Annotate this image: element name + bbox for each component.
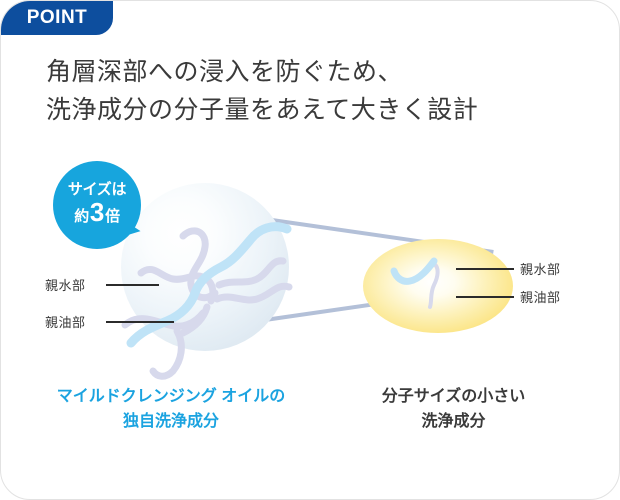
left-leader-line-hydrophilic bbox=[106, 284, 159, 286]
size-badge-suffix: 倍 bbox=[105, 204, 120, 230]
large-molecule-strands bbox=[111, 181, 311, 381]
large-molecule-sphere bbox=[121, 183, 289, 351]
right-label-hydrophilic: 親水部 bbox=[520, 259, 561, 278]
point-card: POINT 角層深部への浸入を防ぐため、 洗浄成分の分子量をあえて大きく設計 bbox=[0, 0, 620, 500]
left-label-hydrophilic: 親水部 bbox=[45, 275, 86, 294]
page-title: 角層深部への浸入を防ぐため、 洗浄成分の分子量をあえて大きく設計 bbox=[46, 53, 478, 129]
right-label-lipophilic: 親油部 bbox=[520, 287, 561, 306]
right-leader-line-lipophilic bbox=[456, 296, 514, 298]
small-molecule-ellipse bbox=[363, 239, 513, 333]
left-figure-caption: マイルドクレンジング オイルの 独自洗浄成分 bbox=[21, 384, 321, 434]
size-badge-line1: サイズは bbox=[68, 181, 126, 199]
point-badge-label: POINT bbox=[27, 7, 88, 29]
left-label-lipophilic: 親油部 bbox=[45, 312, 86, 331]
connector-line-top bbox=[244, 214, 494, 254]
size-badge-line2: 約 3 倍 bbox=[74, 199, 120, 230]
left-leader-line-lipophilic bbox=[106, 321, 174, 323]
size-badge-tail bbox=[116, 220, 142, 246]
size-badge-number: 3 bbox=[89, 199, 105, 225]
size-badge: サイズは 約 3 倍 bbox=[53, 161, 141, 249]
right-leader-line-hydrophilic bbox=[456, 268, 514, 270]
small-molecule-strands bbox=[386, 249, 466, 319]
size-badge-prefix: 約 bbox=[74, 204, 89, 230]
point-badge: POINT bbox=[1, 1, 113, 35]
connector-line-bottom bbox=[244, 285, 494, 325]
right-figure-caption: 分子サイズの小さい 洗浄成分 bbox=[331, 384, 576, 434]
